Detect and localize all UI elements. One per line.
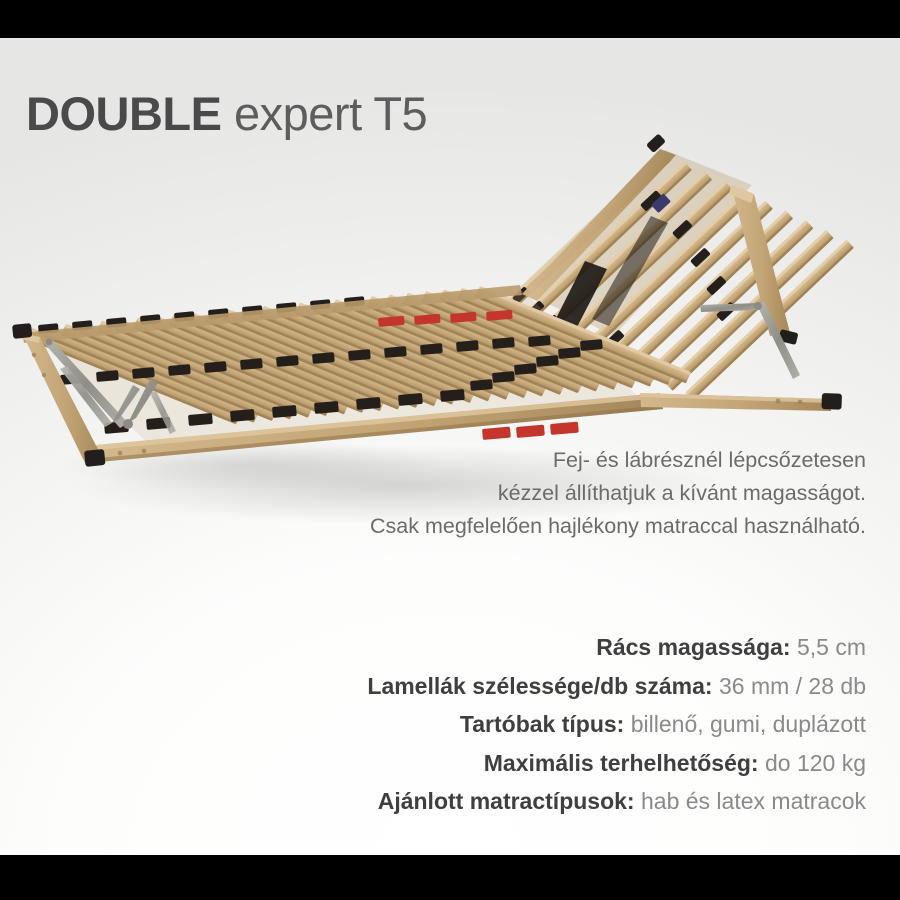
- description-block: Fej- és lábrésznél lépcsőzetesen kézzel …: [246, 444, 866, 543]
- spec-row: Maximális terhelhetőség: do 120 kg: [166, 744, 866, 783]
- spec-value: hab és latex matracok: [641, 788, 866, 814]
- end-cap-foot-far: [12, 323, 32, 339]
- spec-row: Rács magassága: 5,5 cm: [166, 628, 866, 667]
- spec-label: Lamellák szélessége/db száma:: [367, 673, 712, 699]
- spec-label: Rács magassága:: [596, 634, 790, 660]
- end-cap-head-rail: [821, 393, 842, 410]
- spec-value: 36 mm / 28 db: [719, 673, 866, 699]
- spec-row: Tartóbak típus: billenő, gumi, duplázott: [166, 705, 866, 744]
- end-cap-head-left: [646, 133, 666, 153]
- spec-value: 5,5 cm: [797, 634, 866, 660]
- spec-label: Maximális terhelhetőség:: [484, 750, 759, 776]
- specifications-block: Rács magassága: 5,5 cm Lamellák szélessé…: [166, 628, 866, 821]
- spec-row: Ajánlott matractípusok: hab és latex mat…: [166, 782, 866, 821]
- spec-row: Lamellák szélessége/db száma: 36 mm / 28…: [166, 667, 866, 706]
- spec-label: Ajánlott matractípusok:: [378, 788, 635, 814]
- spec-label: Tartóbak típus:: [460, 711, 624, 737]
- product-image-frame: DOUBLE expert T5: [0, 0, 900, 900]
- spec-value: do 120 kg: [765, 750, 866, 776]
- description-line-2: kézzel állíthatjuk a kívánt magasságot.: [246, 477, 866, 510]
- description-line-3: Csak megfelelően hajlékony matraccal has…: [246, 510, 866, 543]
- letterbox-band-bottom: [0, 855, 900, 900]
- letterbox-band-top: [0, 0, 900, 38]
- spec-value: billenő, gumi, duplázott: [631, 711, 866, 737]
- description-line-1: Fej- és lábrésznél lépcsőzetesen: [246, 444, 866, 477]
- product-canvas: DOUBLE expert T5: [0, 38, 900, 855]
- end-cap-foot-near: [84, 449, 106, 467]
